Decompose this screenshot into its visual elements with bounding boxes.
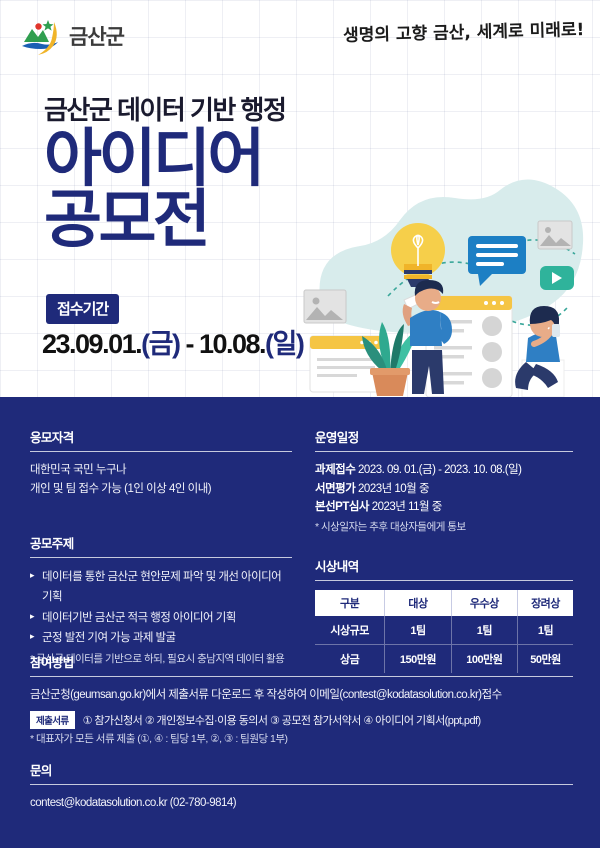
documents-badge: 제출서류 <box>30 711 75 729</box>
topic-bullets: 데이터를 통한 금산군 현안문제 파악 및 개선 아이디어 기획 데이터기반 금… <box>30 567 292 649</box>
logo-text: 금산군 <box>69 21 124 51</box>
image-placeholder-icon-left <box>304 290 346 323</box>
schedule-label: 서면평가 <box>315 483 355 495</box>
top-section: 금산군 생명의 고향 금산, 세계로 미래로! 금산군 데이터 기반 행정 아이… <box>0 0 600 397</box>
schedule-row: 과제접수 2023. 09. 01.(금) - 2023. 10. 08.(일) <box>315 461 573 480</box>
schedule-note: * 시상일자는 추후 대상자들에게 통보 <box>315 519 573 534</box>
title-line-2: 공모전 <box>44 190 285 252</box>
slogan-calligraphy: 생명의 고향 금산, 세계로 미래로! <box>343 15 585 46</box>
geumsan-emblem-icon <box>18 16 62 56</box>
browser-window-left <box>310 336 384 392</box>
divider <box>315 451 573 452</box>
cell: 1팀 <box>385 616 451 645</box>
schedule-value: 2023년 10월 중 <box>358 483 429 495</box>
divider <box>30 451 292 452</box>
eligibility-line-2: 개인 및 팀 접수 가능 (1인 이상 4인 이내) <box>30 480 292 499</box>
table-header-row: 구분 대상 우수상 장려상 <box>315 590 573 616</box>
schedule-label: 과제접수 <box>315 464 355 476</box>
period-dates: 23.09.01.(금) - 10.08.(일) <box>42 322 303 361</box>
logo: 금산군 <box>18 16 124 56</box>
left-column: 응모자격 대한민국 국민 누구나 개인 및 팀 접수 가능 (1인 이상 4인 … <box>30 427 292 666</box>
column-header: 우수상 <box>451 590 517 616</box>
section-eligibility: 응모자격 대한민국 국민 누구나 개인 및 팀 접수 가능 (1인 이상 4인 … <box>30 427 292 499</box>
participation-title: 참여방법 <box>30 652 573 676</box>
section-participation: 참여방법 금산군청(geumsan.go.kr)에서 제출서류 다운로드 후 작… <box>30 652 573 746</box>
divider <box>315 580 573 581</box>
list-item: 군정 발전 기여 가능 과제 발굴 <box>30 628 292 648</box>
contact-title: 문의 <box>30 760 573 784</box>
schedule-value: 2023. 09. 01.(금) - 2023. 10. 08.(일) <box>358 464 521 476</box>
info-panel: 응모자격 대한민국 국민 누구나 개인 및 팀 접수 가능 (1인 이상 4인 … <box>0 397 600 848</box>
schedule-label: 본선PT심사 <box>315 501 369 513</box>
section-topic: 공모주제 데이터를 통한 금산군 현안문제 파악 및 개선 아이디어 기획 데이… <box>30 533 292 666</box>
table-row: 시상규모 1팀 1팀 1팀 <box>315 616 573 645</box>
right-column: 운영일정 과제접수 2023. 09. 01.(금) - 2023. 10. 0… <box>315 427 573 673</box>
eligibility-line-1: 대한민국 국민 누구나 <box>30 461 292 480</box>
period-start-day: (금) <box>141 329 179 359</box>
divider <box>30 557 292 558</box>
contact-value: contest@kodatasolution.co.kr (02-780-981… <box>30 794 573 813</box>
documents-row: 제출서류 ① 참가신청서 ② 개인정보수집·이용 동의서 ③ 공모전 참가서약서… <box>30 711 573 729</box>
cell: 1팀 <box>451 616 517 645</box>
person-sitting <box>515 306 564 397</box>
period-end-day: (일) <box>265 329 303 359</box>
section-schedule: 운영일정 과제접수 2023. 09. 01.(금) - 2023. 10. 0… <box>315 427 573 534</box>
schedule-title: 운영일정 <box>315 427 573 451</box>
title-line-1: 아이디어 <box>44 124 262 194</box>
title-main: 아이디어 공모전 <box>44 129 285 252</box>
schedule-value: 2023년 11월 중 <box>372 501 442 513</box>
awards-title: 시상내역 <box>315 556 573 580</box>
schedule-row: 본선PT심사 2023년 11월 중 <box>315 498 573 517</box>
divider <box>30 676 573 677</box>
list-item: 데이터를 통한 금산군 현안문제 파악 및 개선 아이디어 기획 <box>30 567 292 608</box>
topic-title: 공모주제 <box>30 533 292 557</box>
column-header: 구분 <box>315 590 385 616</box>
period-badge: 접수기간 <box>46 294 119 324</box>
documents-items: ① 참가신청서 ② 개인정보수집·이용 동의서 ③ 공모전 참가서약서 ④ 아이… <box>83 712 481 728</box>
list-item: 데이터기반 금산군 적극 행정 아이디어 기획 <box>30 608 292 628</box>
title-subtitle: 금산군 데이터 기반 행정 <box>44 96 285 125</box>
participation-note: * 대표자가 모든 서류 제출 (①, ④ : 팀당 1부, ②, ③ : 팀원… <box>30 731 573 746</box>
column-header: 장려상 <box>518 590 573 616</box>
eligibility-body: 대한민국 국민 누구나 개인 및 팀 접수 가능 (1인 이상 4인 이내) <box>30 461 292 499</box>
poster-root: 금산군 생명의 고향 금산, 세계로 미래로! 금산군 데이터 기반 행정 아이… <box>0 0 600 848</box>
hero-illustration <box>300 178 600 397</box>
section-contact: 문의 contest@kodatasolution.co.kr (02-780-… <box>30 760 573 813</box>
row-label: 시상규모 <box>315 616 385 645</box>
schedule-row: 서면평가 2023년 10월 중 <box>315 480 573 499</box>
period-end: 10.08. <box>199 329 265 359</box>
video-play-icon <box>540 266 574 290</box>
participation-line-1: 금산군청(geumsan.go.kr)에서 제출서류 다운로드 후 작성하여 이… <box>30 686 573 706</box>
page-title: 금산군 데이터 기반 행정 아이디어 공모전 <box>44 96 285 252</box>
eligibility-title: 응모자격 <box>30 427 292 451</box>
image-placeholder-icon-top <box>538 221 572 249</box>
period-separator: - <box>185 329 193 359</box>
column-header: 대상 <box>385 590 451 616</box>
period-start: 23.09.01. <box>42 329 141 359</box>
cell: 1팀 <box>518 616 573 645</box>
divider <box>30 784 573 785</box>
